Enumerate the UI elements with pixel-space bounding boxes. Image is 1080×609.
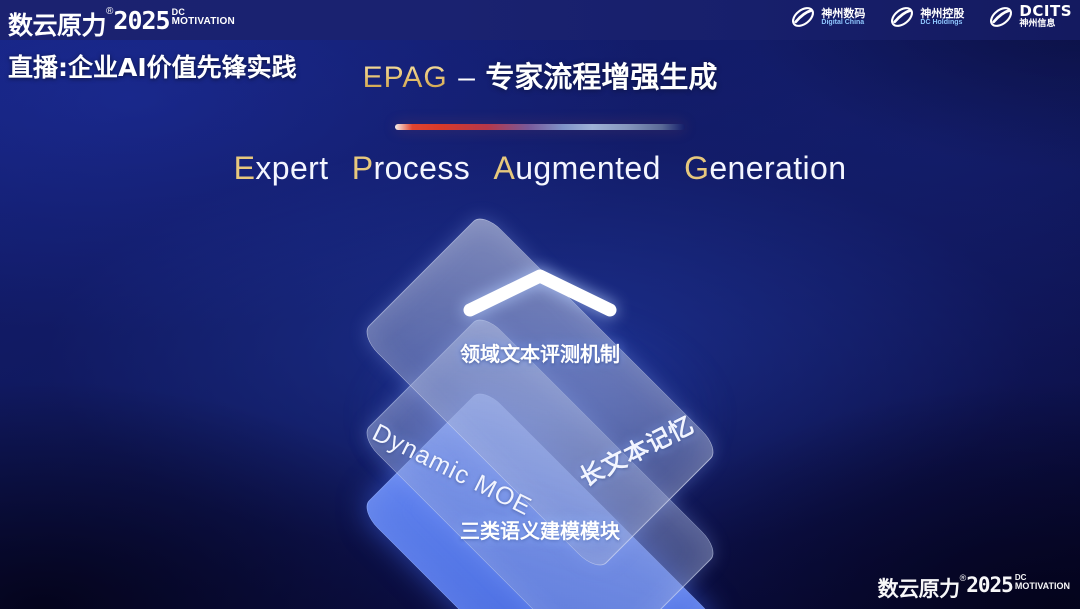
- live-stream-title: 直播:企业AI价值先锋实践: [8, 48, 297, 84]
- subtitle-word: Generation: [684, 150, 846, 186]
- logo-name-cn: 神州控股: [920, 8, 964, 20]
- title-dash: –: [458, 61, 475, 94]
- swoosh-icon: [889, 4, 915, 30]
- subtitle-initial: G: [684, 150, 709, 186]
- brand-logo-top: 数云原力 ® 2025 DC MOTIVATION: [8, 6, 235, 42]
- logo-name-cn: DCITS: [1019, 4, 1072, 20]
- subtitle-rest: xpert: [255, 150, 328, 186]
- brand-registered-mark: ®: [960, 573, 967, 583]
- brand-logo-bottom: 数云原力 ® 2025 DC MOTIVATION: [878, 573, 1070, 603]
- subtitle-word: Augmented: [493, 150, 670, 186]
- title-acronym: EPAG: [363, 61, 448, 94]
- subtitle-initial: E: [234, 150, 256, 186]
- subtitle-initial: A: [493, 150, 515, 186]
- logo-text-block: 神州控股 DC Holdings: [920, 8, 964, 27]
- brand-dc-motivation: DC MOTIVATION: [1015, 573, 1070, 591]
- plate-surface: [359, 211, 720, 572]
- brand-name-cn: 数云原力: [878, 573, 960, 603]
- brand-motivation: MOTIVATION: [172, 17, 235, 27]
- logo-digital-china: 神州数码 Digital China: [790, 4, 865, 30]
- title-chinese: 专家流程增强生成: [485, 60, 717, 94]
- logo-name-en: 神州信息: [1019, 20, 1072, 29]
- subtitle-initial: P: [352, 150, 374, 186]
- brand-name-cn: 数云原力: [8, 6, 106, 42]
- subtitle-expansion: Expert Process Augmented Generation: [0, 150, 1080, 187]
- brand-motivation: MOTIVATION: [1015, 582, 1070, 591]
- subtitle-rest: eneration: [709, 150, 846, 186]
- logo-text-block: DCITS 神州信息: [1019, 4, 1072, 29]
- subtitle-rest: ugmented: [515, 150, 661, 186]
- brand-registered-mark: ®: [106, 6, 113, 17]
- swoosh-icon: [988, 4, 1014, 30]
- subtitle-word: Expert: [234, 150, 338, 186]
- layer-plate-top: [0, 224, 1080, 560]
- brand-dc-motivation: DC MOTIVATION: [172, 6, 235, 27]
- logo-dc-holdings: 神州控股 DC Holdings: [889, 4, 964, 30]
- brand-year: 2025: [966, 573, 1013, 597]
- gradient-divider: [395, 124, 685, 130]
- brand-year: 2025: [113, 6, 169, 35]
- slide-canvas: 数云原力 ® 2025 DC MOTIVATION 直播:企业AI价值先锋实践 …: [0, 0, 1080, 609]
- logo-text-block: 神州数码 Digital China: [821, 8, 865, 27]
- logo-name-en: Digital China: [821, 19, 865, 26]
- logo-name-en: DC Holdings: [920, 19, 964, 26]
- subtitle-rest: rocess: [374, 150, 471, 186]
- layer-stack-diagram: 领域文本评测机制 Dynamic MOE 长文本记忆 三类语义建模模块: [0, 224, 1080, 594]
- logo-dcits: DCITS 神州信息: [988, 4, 1072, 30]
- logo-name-cn: 神州数码: [821, 8, 865, 20]
- partner-logo-group: 神州数码 Digital China 神州控股 DC Holdings: [790, 4, 1072, 30]
- swoosh-icon: [790, 4, 816, 30]
- subtitle-word: Process: [352, 150, 480, 186]
